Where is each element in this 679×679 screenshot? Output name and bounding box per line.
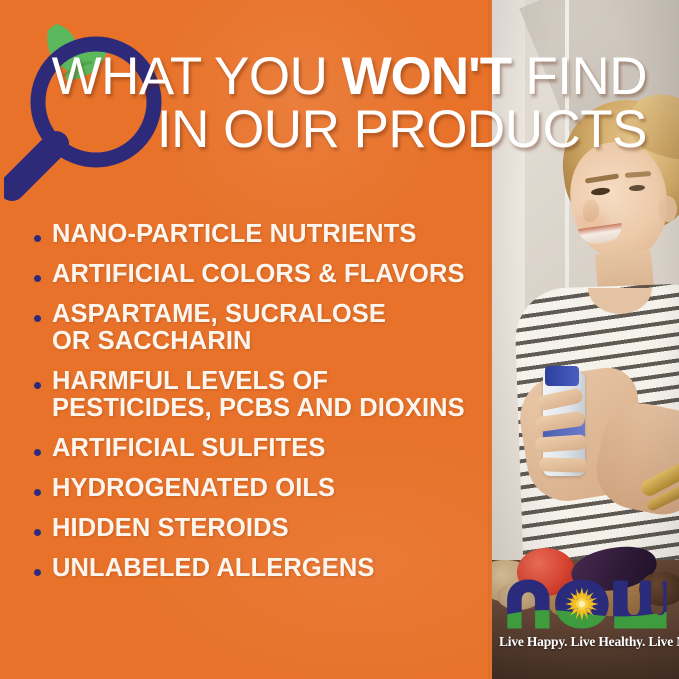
list-item: ASPARTAME, SUCRALOSE OR SACCHARIN [34, 301, 484, 355]
bullet-dot-icon [34, 529, 41, 536]
exclusion-list: NANO-PARTICLE NUTRIENTS ARTIFICIAL COLOR… [34, 221, 484, 595]
logo-tagline: Live Happy. Live Healthy. Live NOW. [499, 634, 667, 650]
poster: WHAT YOU WON'T FIND IN OUR PRODUCTS NANO… [0, 0, 679, 679]
bullet-dot-icon [34, 382, 41, 389]
list-item: ARTIFICIAL SULFITES [34, 435, 484, 462]
list-item: HIDDEN STEROIDS [34, 515, 484, 542]
list-item: HARMFUL LEVELS OF PESTICIDES, PCBS AND D… [34, 368, 484, 422]
list-item-label: HYDROGENATED OILS [52, 475, 335, 502]
list-item: HYDROGENATED OILS [34, 475, 484, 502]
registered-trademark-icon: ® [661, 582, 666, 589]
magnifying-glass-icon [4, 10, 194, 210]
list-item-label: UNLABELED ALLERGENS [52, 555, 375, 582]
list-item: UNLABELED ALLERGENS [34, 555, 484, 582]
bullet-dot-icon [34, 315, 41, 322]
bullet-dot-icon [34, 569, 41, 576]
bullet-dot-icon [34, 489, 41, 496]
list-item: NANO-PARTICLE NUTRIENTS [34, 221, 484, 248]
list-item-label: ARTIFICIAL SULFITES [52, 435, 325, 462]
list-item-label: HIDDEN STEROIDS [52, 515, 289, 542]
bullet-dot-icon [34, 449, 41, 456]
now-brand-mark: ® [499, 575, 667, 633]
list-item-label: NANO-PARTICLE NUTRIENTS [52, 221, 416, 248]
list-item-label: HARMFUL LEVELS OF PESTICIDES, PCBS AND D… [52, 368, 465, 422]
list-item-label: ARTIFICIAL COLORS & FLAVORS [52, 261, 465, 288]
now-logo: ® Live Happy. Live Healthy. Live NOW. [499, 575, 667, 659]
list-item-label: ASPARTAME, SUCRALOSE OR SACCHARIN [52, 301, 386, 355]
bullet-dot-icon [34, 275, 41, 282]
list-item: ARTIFICIAL COLORS & FLAVORS [34, 261, 484, 288]
panel-seam [488, 0, 492, 679]
bullet-dot-icon [34, 235, 41, 242]
